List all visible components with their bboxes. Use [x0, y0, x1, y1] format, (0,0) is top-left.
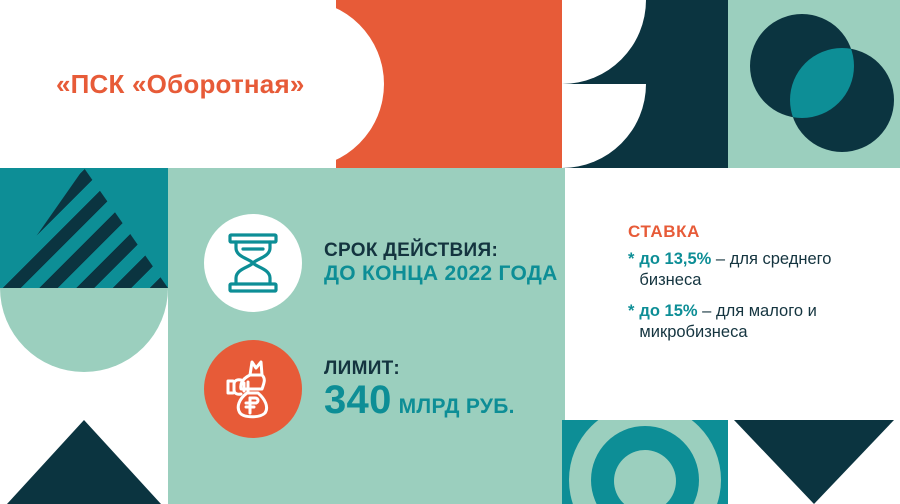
rate-item-value: до 15% — [639, 302, 697, 320]
rate-title: СТАВКА — [628, 222, 890, 242]
limit-info-row: ЛИМИТ: 340 МЛРД РУБ. — [204, 340, 515, 438]
half-circle-shape — [0, 288, 168, 372]
money-bag-ruble-icon — [204, 340, 302, 438]
bullet-star-icon: * — [628, 301, 634, 322]
rate-item-value: до 13,5% — [639, 250, 711, 268]
circle-cutout-top — [562, 0, 646, 84]
rate-item-text: до 15% – для малого и микробизнеса — [639, 301, 890, 343]
slide-canvas: «ПСК «Оборотная» — [0, 0, 900, 504]
limit-unit: МЛРД РУБ. — [399, 395, 515, 419]
info-panel: СРОК ДЕЙСТВИЯ: ДО КОНЦА 2022 ГОДА — [168, 168, 565, 504]
rate-panel: СТАВКА * до 13,5% – для среднего бизнеса… — [628, 222, 890, 353]
triangle-down-shape — [734, 420, 894, 504]
bullet-star-icon: * — [628, 249, 634, 270]
limit-amount: 340 — [324, 380, 392, 420]
striped-triangle-block — [0, 168, 168, 288]
concentric-rings-shape — [562, 420, 728, 504]
limit-label: ЛИМИТ: — [324, 358, 515, 380]
rate-item-small-business: * до 15% – для малого и микробизнеса — [628, 301, 890, 343]
circle-cutout-bottom — [562, 84, 646, 168]
limit-text-group: ЛИМИТ: 340 МЛРД РУБ. — [324, 358, 515, 420]
rate-item-text: до 13,5% – для среднего бизнеса — [639, 249, 890, 291]
striped-triangle-shape — [0, 168, 168, 288]
limit-value: 340 МЛРД РУБ. — [324, 380, 515, 420]
title-pill: «ПСК «Оборотная» — [0, 0, 384, 168]
duration-info-row: СРОК ДЕЙСТВИЯ: ДО КОНЦА 2022 ГОДА — [204, 214, 558, 312]
rate-item-medium-business: * до 13,5% – для среднего бизнеса — [628, 249, 890, 291]
hourglass-icon — [204, 214, 302, 312]
triangle-up-shape — [7, 420, 161, 504]
duration-value: ДО КОНЦА 2022 ГОДА — [324, 262, 558, 286]
duration-label: СРОК ДЕЙСТВИЯ: — [324, 240, 558, 262]
page-title: «ПСК «Оборотная» — [56, 69, 305, 100]
navy-block-top — [562, 0, 728, 168]
duration-text-group: СРОК ДЕЙСТВИЯ: ДО КОНЦА 2022 ГОДА — [324, 240, 558, 286]
ring-inner — [614, 450, 676, 504]
venn-decoration — [728, 0, 900, 168]
